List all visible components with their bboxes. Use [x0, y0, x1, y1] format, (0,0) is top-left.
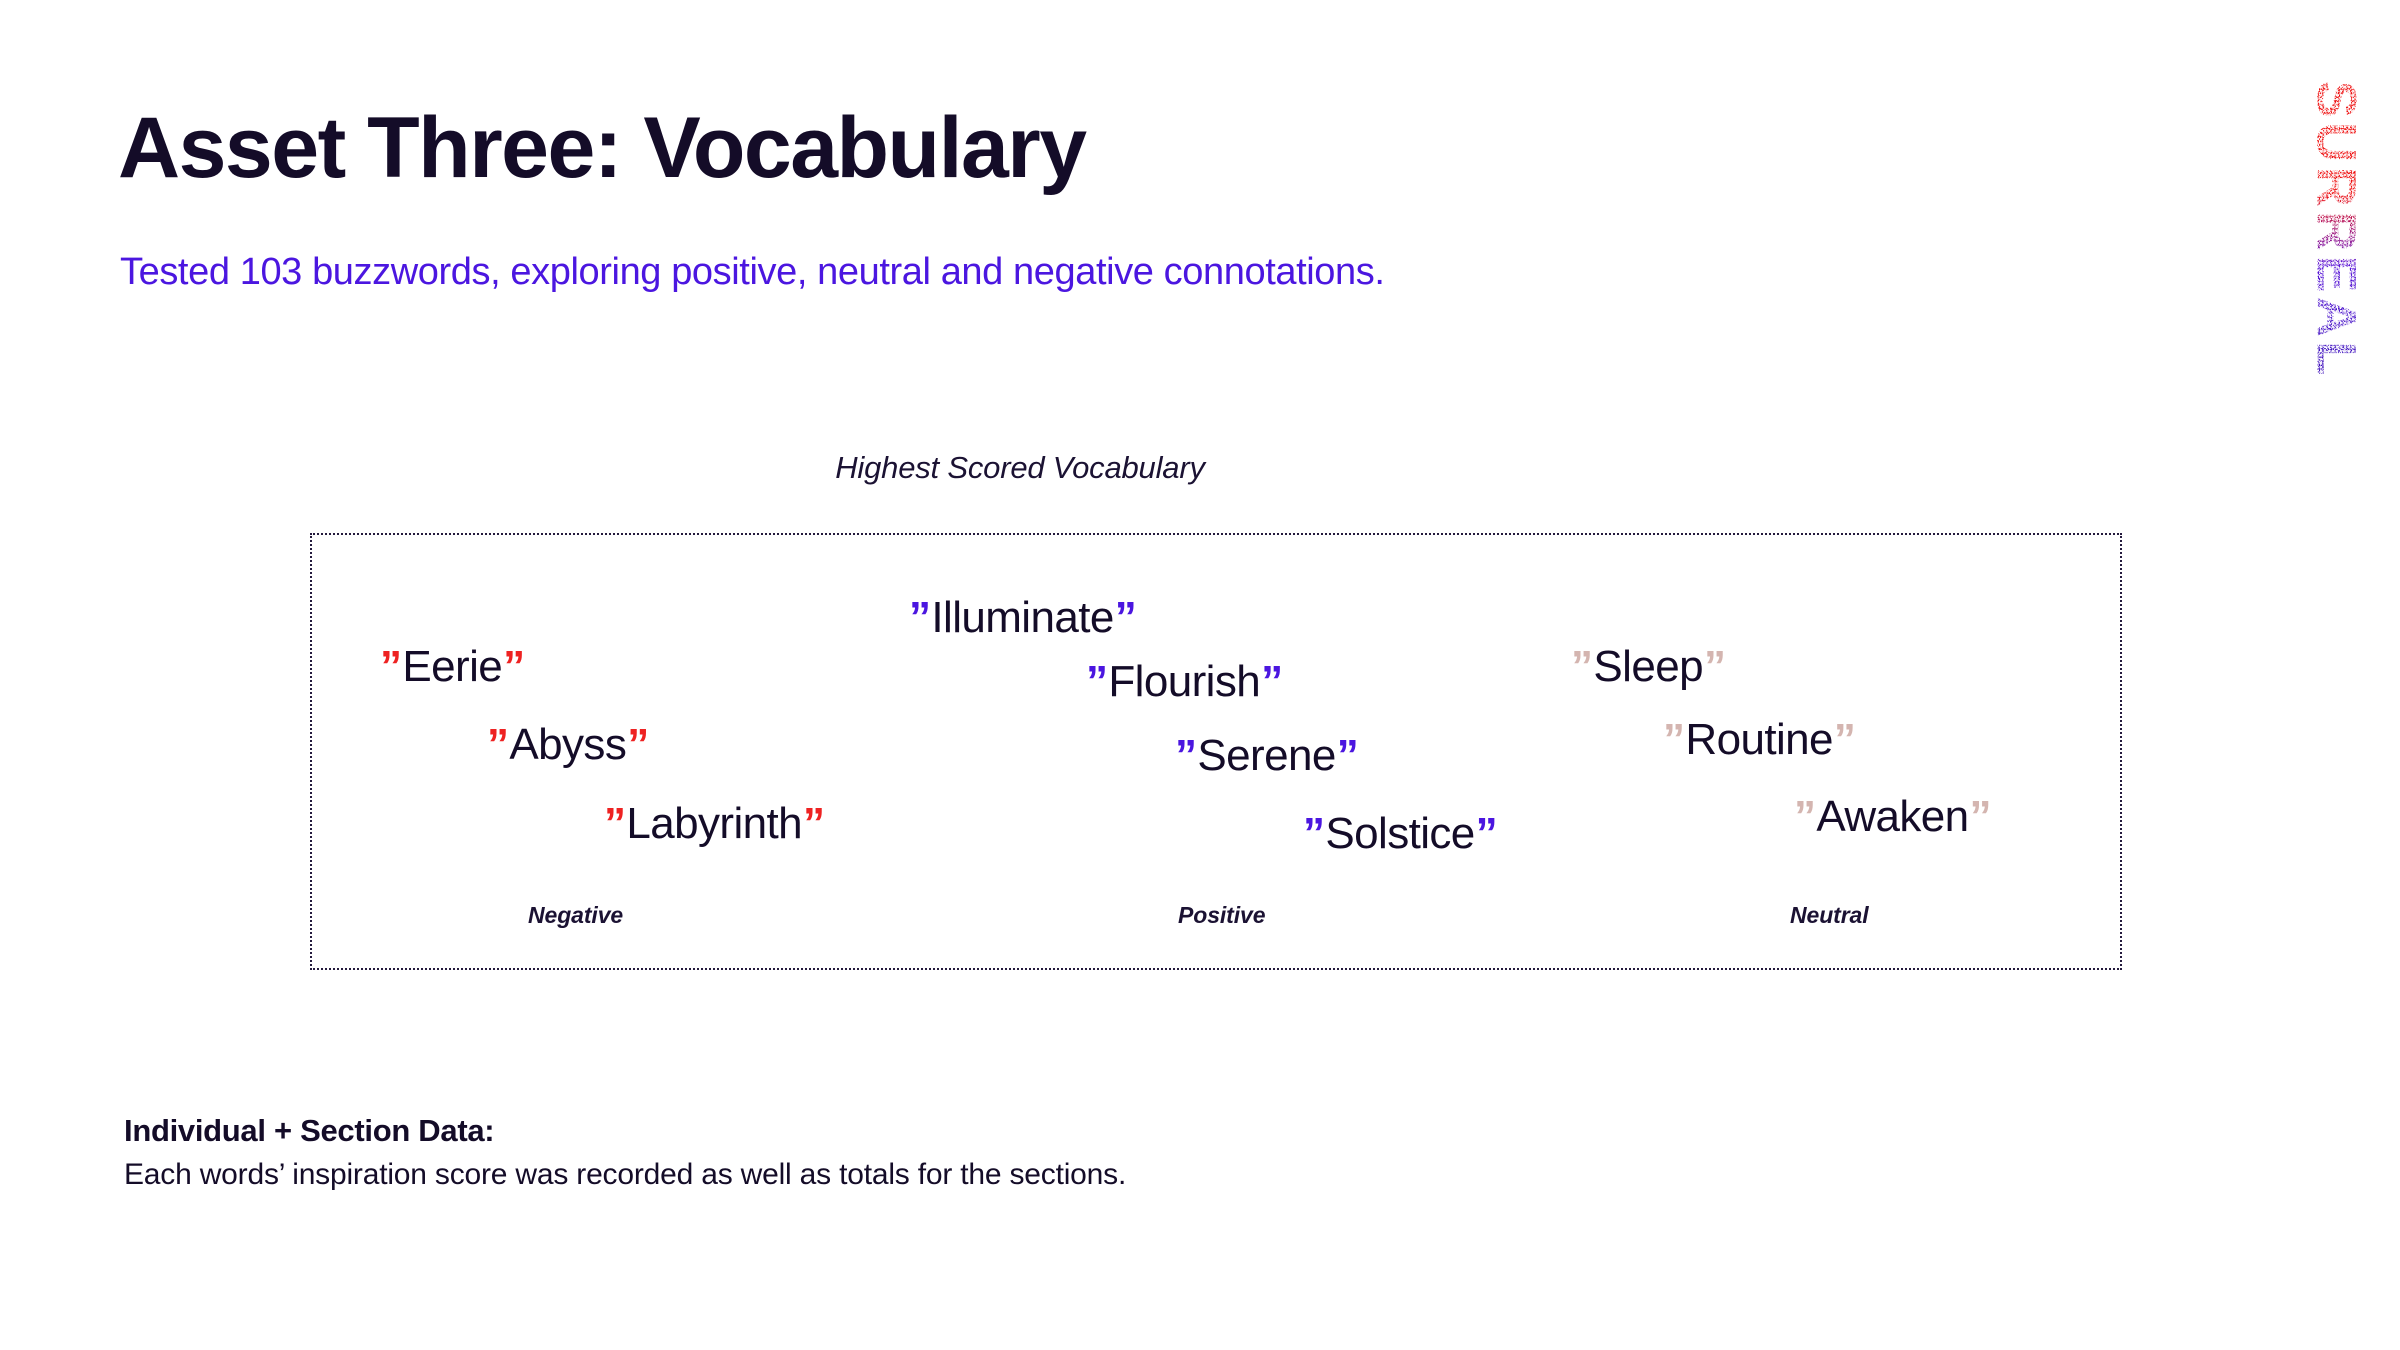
vocabulary-word: ”Abyss” — [487, 723, 649, 767]
vocabulary-word: ”Solstice” — [1303, 812, 1497, 856]
category-label-positive: Positive — [1178, 902, 1265, 929]
vocabulary-word-label: Routine — [1685, 715, 1832, 764]
chart-title: Highest Scored Vocabulary — [0, 450, 2400, 486]
vocabulary-word: ”Labyrinth” — [604, 802, 824, 846]
quote-close: ” — [1970, 792, 1991, 841]
quote-close: ” — [1337, 731, 1358, 780]
page-subtitle: Tested 103 buzzwords, exploring positive… — [120, 252, 1385, 294]
vocabulary-word: ”Serene” — [1175, 734, 1358, 778]
vocabulary-word: ”Illuminate” — [909, 596, 1136, 640]
footer-heading: Individual + Section Data: — [124, 1112, 1624, 1151]
quote-close: ” — [627, 720, 648, 769]
footer-body: Each words’ inspiration score was record… — [124, 1155, 1624, 1194]
vocabulary-word: ”Flourish” — [1086, 660, 1283, 704]
vocabulary-word-label: Sleep — [1593, 642, 1703, 691]
footer-note: Individual + Section Data: Each words’ i… — [124, 1112, 1624, 1194]
vocabulary-word-label: Serene — [1197, 731, 1335, 780]
vocabulary-word-label: Eerie — [402, 642, 502, 691]
vocabulary-word: ”Routine” — [1663, 718, 1855, 762]
quote-close: ” — [1261, 657, 1282, 706]
category-label-neutral: Neutral — [1790, 902, 1869, 929]
surreal-logo-text: SURREAL — [2305, 81, 2370, 380]
quote-open: ” — [380, 642, 401, 691]
vocabulary-word: ”Awaken” — [1794, 795, 1991, 839]
vocabulary-word-label: Flourish — [1108, 657, 1260, 706]
quote-open: ” — [1303, 809, 1324, 858]
quote-open: ” — [1571, 642, 1592, 691]
quote-open: ” — [909, 593, 930, 642]
quote-close: ” — [1704, 642, 1725, 691]
quote-close: ” — [1476, 809, 1497, 858]
slide-canvas: Asset Three: Vocabulary Tested 103 buzzw… — [0, 0, 2400, 1350]
vocabulary-word: ”Eerie” — [380, 645, 525, 689]
quote-close: ” — [1834, 715, 1855, 764]
category-label-negative: Negative — [528, 902, 623, 929]
quote-open: ” — [1794, 792, 1815, 841]
quote-open: ” — [604, 799, 625, 848]
vocabulary-word-label: Solstice — [1325, 809, 1474, 858]
vocabulary-word-label: Illuminate — [931, 593, 1113, 642]
quote-open: ” — [1175, 731, 1196, 780]
quote-close: ” — [503, 642, 524, 691]
vocabulary-word-label: Abyss — [509, 720, 626, 769]
quote-open: ” — [1663, 715, 1684, 764]
chart-title-text: Highest Scored Vocabulary — [835, 450, 1205, 485]
quote-close: ” — [803, 799, 824, 848]
quote-close: ” — [1115, 593, 1136, 642]
vocabulary-word: ”Sleep” — [1571, 645, 1725, 689]
surreal-logo: SURREAL — [2292, 30, 2382, 430]
page-title: Asset Three: Vocabulary — [118, 105, 1086, 191]
quote-open: ” — [1086, 657, 1107, 706]
vocabulary-word-label: Awaken — [1816, 792, 1968, 841]
quote-open: ” — [487, 720, 508, 769]
vocabulary-word-label: Labyrinth — [626, 799, 802, 848]
